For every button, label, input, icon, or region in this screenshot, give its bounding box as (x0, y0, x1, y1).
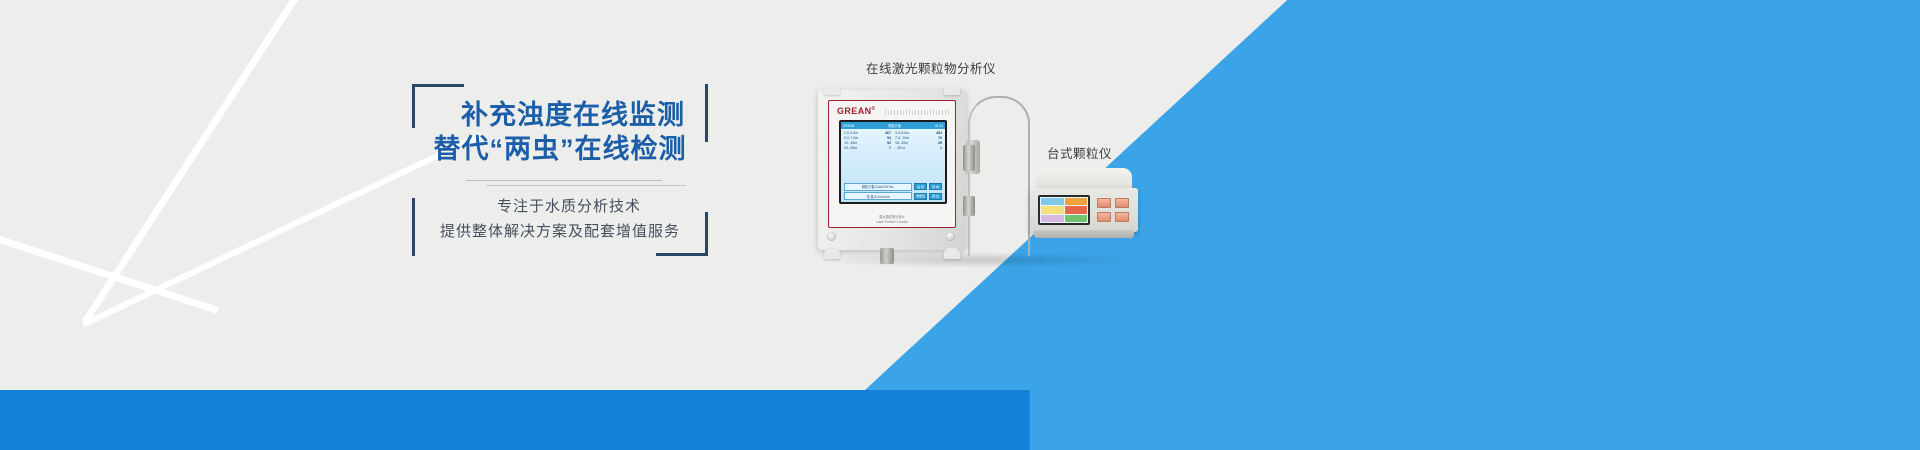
lcd-range: 10- 15m (844, 141, 857, 145)
lcd-value: 454 (936, 131, 942, 135)
lcd-value: 467 (885, 131, 891, 135)
lcd-field-particle-count: 颗粒计数:116xCNT/mL (844, 183, 912, 191)
lcd-field-flow-rate: 流 量:5.2mL/min (844, 192, 912, 200)
promo-banner: 补充浊度在线监测 替代“两虫”在线检测 专注于水质分析技术 提供整体解决方案及配… (0, 0, 1920, 450)
benchtop-base (1034, 230, 1134, 238)
analyzer-model-text: 集大颗粒物分析仪 Laser Particle Counter (829, 215, 955, 224)
tube-fitting (963, 145, 975, 171)
analyzer-mount-lug (944, 84, 960, 95)
benchtop-lcd-tile[interactable] (1065, 198, 1088, 205)
headline-line-1: 补充浊度在线监测 (412, 98, 708, 132)
benchtop-lcd-tile[interactable] (1041, 215, 1064, 222)
benchtop-lcd-tile[interactable] (1041, 206, 1064, 213)
lcd-range: 15- 20m (895, 141, 908, 145)
brand-name: GREAN (837, 106, 872, 116)
lcd-titlebar: GREAN 颗粒计数 01 02 (841, 122, 945, 129)
lcd-reading-cell: 5.0-7.0m94 (844, 136, 891, 140)
subtitle-line-1: 专注于水质分析技术 (412, 194, 708, 219)
lcd-reading-cell: 10- 15m52 (844, 141, 891, 145)
lcd-button-exit[interactable]: 退 出 (929, 193, 942, 200)
benchtop-keypad[interactable] (1097, 198, 1129, 222)
headline-block: 补充浊度在线监测 替代“两虫”在线检测 专注于水质分析技术 提供整体解决方案及配… (412, 84, 708, 256)
analyzer-model-en: Laser Particle Counter (829, 220, 955, 224)
lcd-title-center: 颗粒计数 (888, 123, 901, 128)
analyzer-mount-lug (824, 84, 840, 95)
analyzer-lcd-screen[interactable]: GREAN 颗粒计数 01 02 2.0-3.0m467 3.0-5.0m454… (841, 122, 945, 202)
headline-divider-secondary (486, 185, 686, 186)
lcd-value: 1 (940, 146, 942, 150)
benchtop-front-panel (1030, 188, 1138, 232)
lcd-value: 35 (938, 141, 942, 145)
label-online-analyzer: 在线激光颗粒物分析仪 (866, 58, 996, 77)
lcd-button-query[interactable]: 查 询 (929, 183, 942, 190)
lcd-range: 7.0- 10m (895, 136, 909, 140)
lcd-status-rows: 颗粒计数:116xCNT/mL 设 置 查 询 流 量:5.2mL/min 测量… (841, 182, 945, 203)
benchtop-lcd-screen[interactable] (1040, 197, 1088, 223)
tube-fitting (963, 196, 975, 216)
analyzer-cable-gland (880, 248, 894, 264)
analyzer-bolt (827, 232, 836, 241)
lcd-reading-cell: 7.0- 10m76 (895, 136, 942, 140)
label-benchtop-analyzer: 台式颗粒仪 (1047, 143, 1112, 162)
lcd-button-measure[interactable]: 测量值 (914, 193, 927, 200)
benchtop-lcd-tile[interactable] (1065, 215, 1088, 222)
lcd-range: 2.0-3.0m (844, 131, 858, 135)
benchtop-key[interactable] (1115, 198, 1129, 208)
lcd-reading-grid: 2.0-3.0m467 3.0-5.0m454 5.0-7.0m94 7.0- … (841, 129, 945, 182)
lcd-reading-cell: - 25 m1 (895, 146, 942, 150)
lcd-range: 5.0-7.0m (844, 136, 858, 140)
analyzer-vent-grille (885, 110, 949, 115)
lcd-value: 76 (938, 136, 942, 140)
headline-divider (466, 180, 662, 181)
subtitle-line-2: 提供整体解决方案及配套增值服务 (412, 219, 708, 244)
subtitle: 专注于水质分析技术 提供整体解决方案及配套增值服务 (412, 194, 708, 244)
lcd-title-left: GREAN (843, 124, 854, 128)
analyzer-mount-lug (824, 248, 840, 259)
lcd-value: 52 (887, 141, 891, 145)
benchtop-lcd-tile[interactable] (1041, 198, 1064, 205)
analyzer-brand-logo: GREAN® (837, 106, 876, 116)
lcd-reading-cell: 2.0-3.0m467 (844, 131, 891, 135)
analyzer-front-panel: GREAN® GREAN 颗粒计数 01 02 2.0-3.0m467 3.0-… (828, 100, 956, 228)
lcd-reading-cell: 3.0-5.0m454 (895, 131, 942, 135)
benchtop-key[interactable] (1115, 212, 1129, 222)
lcd-value: 94 (887, 136, 891, 140)
analyzer-mount-lug (944, 248, 960, 259)
lcd-range: 20- 25m (844, 146, 857, 150)
lcd-reading-cell: 20- 25m7 (844, 146, 891, 150)
lcd-range: - 25 m (895, 146, 905, 150)
brand-trademark: ® (872, 106, 876, 112)
lcd-title-right: 01 02 (935, 124, 943, 128)
lcd-button-settings[interactable]: 设 置 (914, 183, 927, 190)
benchtop-key[interactable] (1097, 198, 1111, 208)
lcd-reading-cell: 15- 20m35 (895, 141, 942, 145)
benchtop-device (1030, 168, 1138, 248)
lcd-status-row: 颗粒计数:116xCNT/mL 设 置 查 询 (844, 183, 942, 191)
analyzer-bolt (946, 232, 955, 241)
connecting-tube (968, 96, 1030, 256)
lcd-range: 3.0-5.0m (895, 131, 909, 135)
analyzer-display-bezel: GREAN 颗粒计数 01 02 2.0-3.0m467 3.0-5.0m454… (839, 120, 947, 204)
benchtop-lid (1036, 168, 1132, 190)
headline: 补充浊度在线监测 替代“两虫”在线检测 (412, 98, 708, 166)
benchtop-lcd-tile[interactable] (1065, 206, 1088, 213)
lcd-value: 7 (889, 146, 891, 150)
online-analyzer-device: GREAN® GREAN 颗粒计数 01 02 2.0-3.0m467 3.0-… (818, 82, 966, 262)
benchtop-display-bezel (1038, 195, 1090, 225)
benchtop-key[interactable] (1097, 212, 1111, 222)
headline-line-2: 替代“两虫”在线检测 (412, 132, 708, 166)
lcd-status-row: 流 量:5.2mL/min 测量值 退 出 (844, 192, 942, 200)
